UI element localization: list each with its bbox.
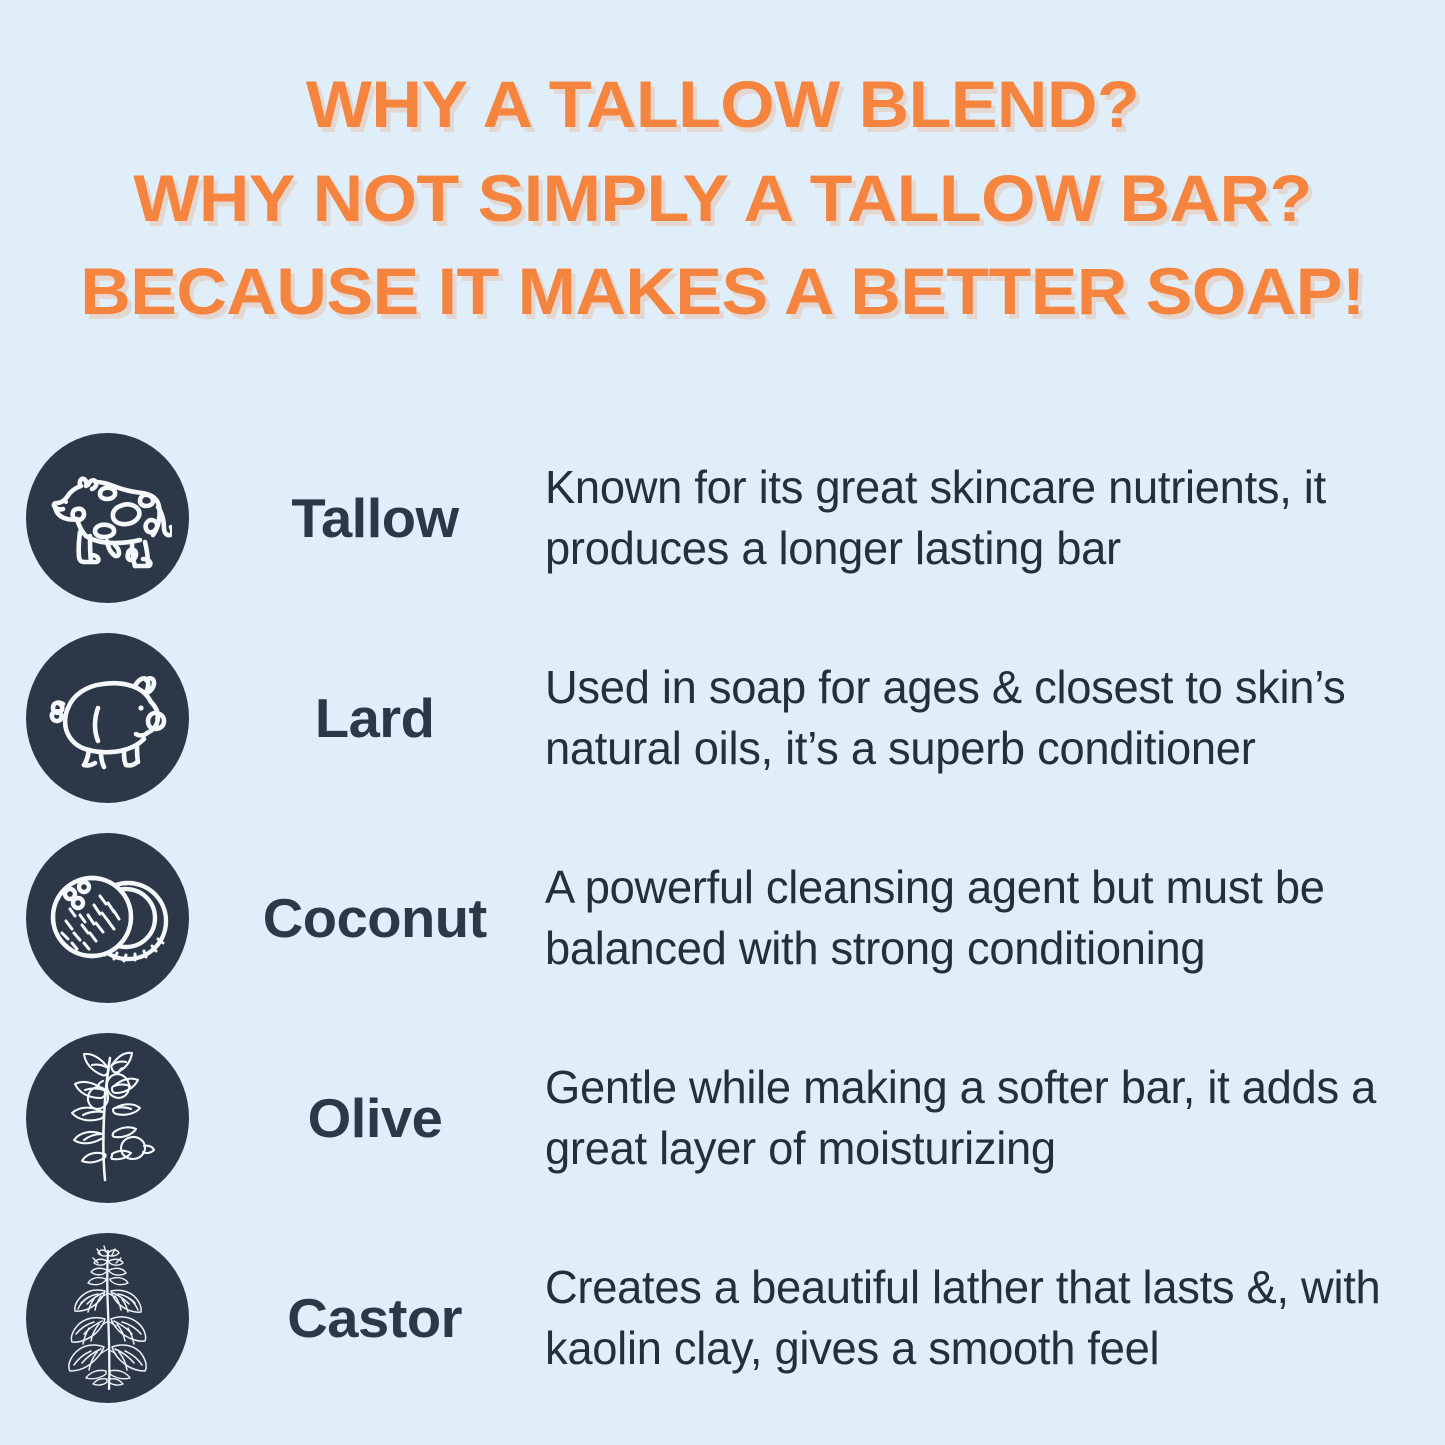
icon-cell — [0, 1033, 215, 1203]
icon-cell — [0, 433, 215, 603]
ingredient-list: Tallow Known for its great skincare nutr… — [0, 418, 1445, 1418]
label-cell: Castor — [215, 1286, 545, 1350]
desc-cell: Gentle while making a softer bar, it add… — [545, 1057, 1445, 1179]
ingredient-label: Coconut — [263, 886, 487, 950]
coconut-icon — [26, 833, 189, 1003]
infographic-poster: WHY A TALLOW BLEND? WHY NOT SIMPLY A TAL… — [0, 0, 1445, 1445]
ingredient-label: Olive — [308, 1086, 443, 1150]
page-title: WHY A TALLOW BLEND? WHY NOT SIMPLY A TAL… — [0, 0, 1445, 339]
ingredient-label: Castor — [288, 1286, 463, 1350]
list-item: Coconut A powerful cleansing agent but m… — [0, 818, 1445, 1018]
pig-icon — [26, 633, 189, 803]
label-cell: Tallow — [215, 486, 545, 550]
icon-cell — [0, 633, 215, 803]
label-cell: Coconut — [215, 886, 545, 950]
icon-cell — [0, 833, 215, 1003]
ingredient-label: Lard — [315, 686, 435, 750]
desc-cell: Known for its great skincare nutrients, … — [545, 457, 1445, 579]
ingredient-description: Known for its great skincare nutrients, … — [545, 457, 1402, 579]
desc-cell: A powerful cleansing agent but must be b… — [545, 857, 1445, 979]
list-item: Lard Used in soap for ages & closest to … — [0, 618, 1445, 818]
ingredient-description: Used in soap for ages & closest to skin’… — [545, 657, 1402, 779]
headline-line-2: WHY NOT SIMPLY A TALLOW BAR? — [0, 152, 1445, 246]
headline-line-3: BECAUSE IT MAKES A BETTER SOAP! — [0, 245, 1445, 339]
list-item: Tallow Known for its great skincare nutr… — [0, 418, 1445, 618]
label-cell: Lard — [215, 686, 545, 750]
cow-icon — [26, 433, 189, 603]
ingredient-description: A powerful cleansing agent but must be b… — [545, 857, 1402, 979]
ingredient-description: Creates a beautiful lather that lasts &,… — [545, 1257, 1402, 1379]
list-item: Olive Gentle while making a softer bar, … — [0, 1018, 1445, 1218]
headline-line-1: WHY A TALLOW BLEND? — [0, 58, 1445, 152]
icon-cell — [0, 1233, 215, 1403]
olive-branch-icon — [26, 1033, 189, 1203]
castor-plant-icon — [26, 1233, 189, 1403]
list-item: Castor Creates a beautiful lather that l… — [0, 1218, 1445, 1418]
label-cell: Olive — [215, 1086, 545, 1150]
ingredient-description: Gentle while making a softer bar, it add… — [545, 1057, 1402, 1179]
ingredient-label: Tallow — [291, 486, 458, 550]
desc-cell: Creates a beautiful lather that lasts &,… — [545, 1257, 1445, 1379]
desc-cell: Used in soap for ages & closest to skin’… — [545, 657, 1445, 779]
